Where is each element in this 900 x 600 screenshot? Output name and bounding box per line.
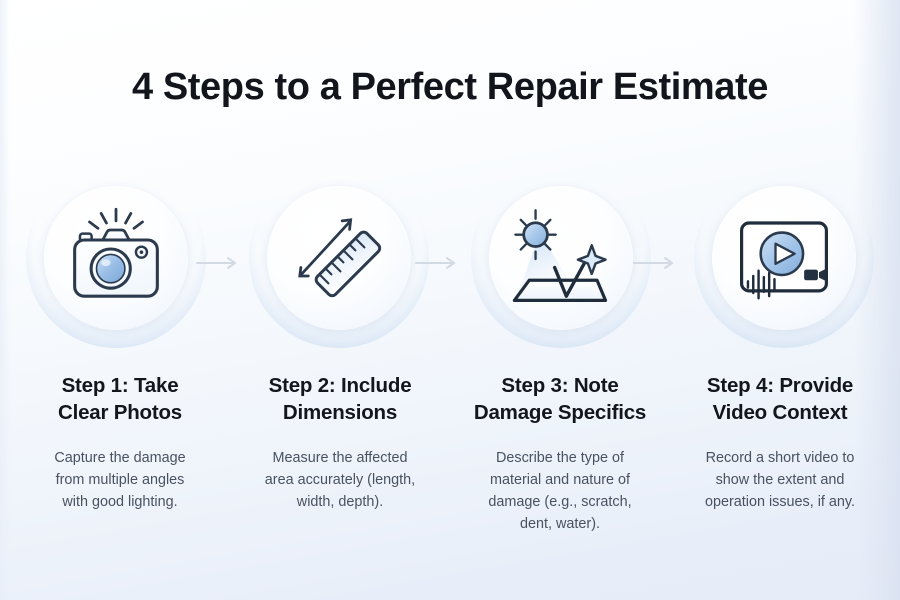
- step-badge-2: [249, 168, 429, 348]
- video-play-icon: [731, 205, 837, 311]
- caption-step-1: Step 1: Take Clear Photos Capture the da…: [14, 372, 226, 513]
- step-body-4: Record a short video to show the extent …: [674, 447, 886, 513]
- step-item-1: [14, 168, 218, 348]
- step-body-1: Capture the damage from multiple angles …: [14, 447, 226, 513]
- caption-step-2: Step 2: Include Dimensions Measure the a…: [234, 372, 446, 513]
- infographic-canvas: 4 Steps to a Perfect Repair Estimate: [0, 0, 900, 600]
- step-badge-4: [694, 168, 874, 348]
- step-body-2: Measure the affected area accurately (le…: [234, 447, 446, 513]
- step-badge-1: [26, 168, 206, 348]
- caption-step-4: Step 4: Provide Video Context Record a s…: [674, 372, 886, 513]
- caption-step-3: Step 3: Note Damage Specifics Describe t…: [454, 372, 666, 535]
- step-title-3: Step 3: Note Damage Specifics: [454, 372, 666, 427]
- step-body-3: Describe the type of material and nature…: [454, 447, 666, 535]
- damage-surface-icon: [508, 205, 614, 311]
- step-item-4: [682, 168, 886, 348]
- camera-icon: [63, 205, 169, 311]
- step-title-1: Step 1: Take Clear Photos: [14, 372, 226, 427]
- ruler-icon: [286, 205, 392, 311]
- captions-row: Step 1: Take Clear Photos Capture the da…: [14, 372, 886, 535]
- step-title-4: Step 4: Provide Video Context: [674, 372, 886, 427]
- step-title-2: Step 2: Include Dimensions: [234, 372, 446, 427]
- step-item-3: [459, 168, 663, 348]
- steps-row: [14, 168, 886, 348]
- step-badge-3: [471, 168, 651, 348]
- page-title: 4 Steps to a Perfect Repair Estimate: [0, 66, 900, 109]
- step-item-2: [237, 168, 441, 348]
